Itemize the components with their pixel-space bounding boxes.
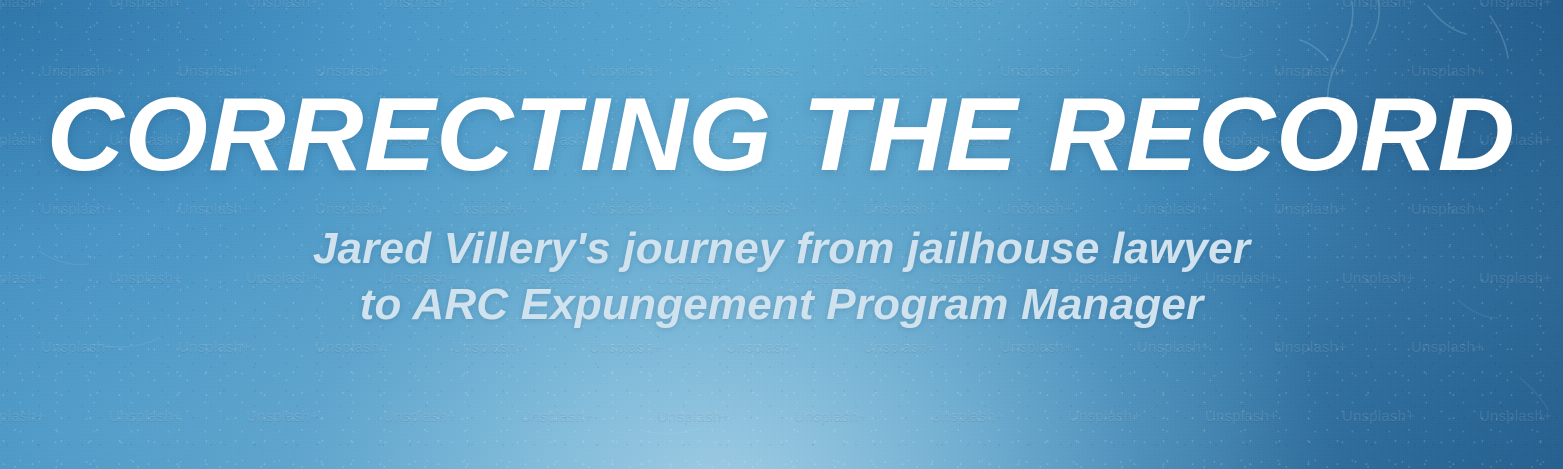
page-title: CORRECTING THE RECORD <box>47 83 1516 187</box>
page-subtitle-line-1: Jared Villery's journey from jailhouse l… <box>313 221 1250 276</box>
page-subtitle-line-2: to ARC Expungement Program Manager <box>313 277 1250 332</box>
banner-text-block: CORRECTING THE RECORD Jared Villery's jo… <box>0 0 1563 469</box>
hero-banner: Unsplash+ Unsplash+ Unsplash+ Unsplash+ … <box>0 0 1563 469</box>
page-subtitle: Jared Villery's journey from jailhouse l… <box>313 221 1250 332</box>
